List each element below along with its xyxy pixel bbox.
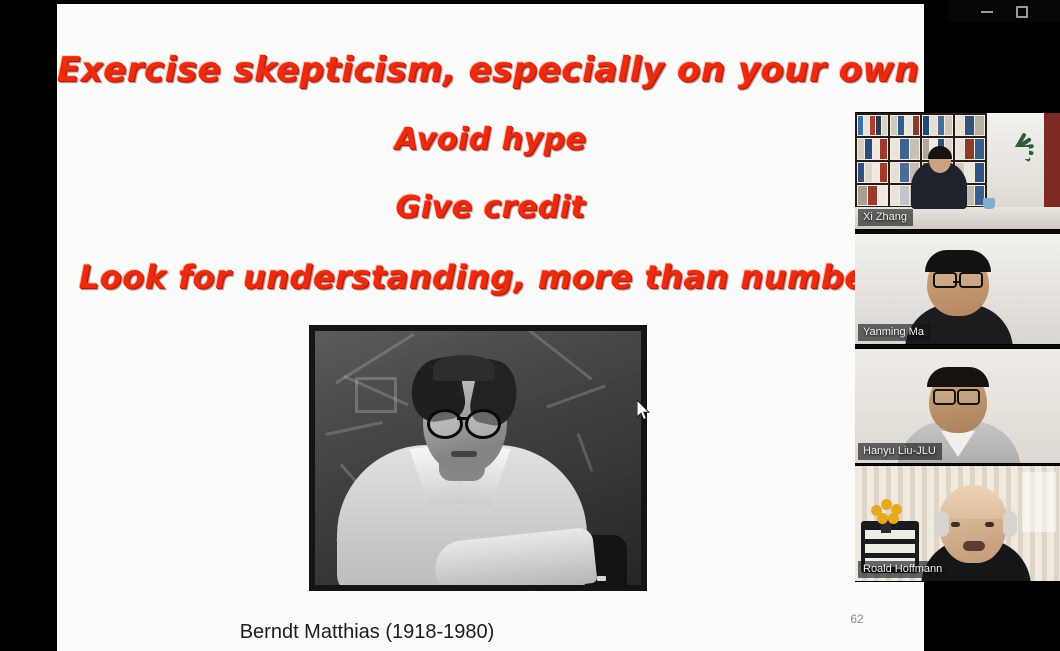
- portrait-subject: [315, 331, 641, 585]
- flowers-icon: [871, 499, 905, 523]
- minimize-icon[interactable]: [981, 5, 993, 17]
- participant-tile[interactable]: Xi Zhang: [855, 112, 1060, 230]
- screen-share-window: Exercise skepticism, especially on your …: [0, 0, 1060, 651]
- participant-tile[interactable]: Roald Hoffmann: [855, 465, 1060, 582]
- eyeglasses-left-icon: [933, 389, 956, 405]
- slide-bullet-3: Give credit: [57, 190, 924, 225]
- shared-slide[interactable]: Exercise skepticism, especially on your …: [57, 4, 924, 651]
- slide-bullet-2: Avoid hype: [57, 122, 924, 157]
- participant-tile[interactable]: Hanyu Liu-JLU: [855, 348, 1060, 464]
- participant-video-strip[interactable]: Xi Zhang Yanming Ma: [855, 112, 1060, 580]
- eyeglasses-left-icon: [427, 409, 463, 439]
- slide-bullet-1: Exercise skepticism, especially on your …: [57, 50, 924, 90]
- eyeglasses-right-icon: [957, 389, 980, 405]
- restore-window-icon[interactable]: [1015, 5, 1027, 17]
- eyeglasses-left-icon: [933, 272, 957, 288]
- participant-name-label: Roald Hoffmann: [858, 561, 948, 578]
- window-controls: [948, 0, 1060, 22]
- portrait-photo: [315, 331, 641, 585]
- participant-name-label: Xi Zhang: [858, 209, 913, 226]
- eyeglasses-right-icon: [959, 272, 983, 288]
- slide-bullet-4: Look for understanding, more than number…: [57, 258, 924, 296]
- slide-page-number: 62: [837, 612, 877, 626]
- portrait-photo-frame: [309, 325, 647, 591]
- participant-name-label: Yanming Ma: [858, 324, 930, 341]
- plant-icon: [1002, 129, 1036, 159]
- photo-caption: Berndt Matthias (1918-1980): [57, 621, 677, 644]
- participant-name-label: Hanyu Liu-JLU: [858, 443, 942, 460]
- eyeglasses-right-icon: [465, 409, 501, 439]
- participant-tile[interactable]: Yanming Ma: [855, 233, 1060, 345]
